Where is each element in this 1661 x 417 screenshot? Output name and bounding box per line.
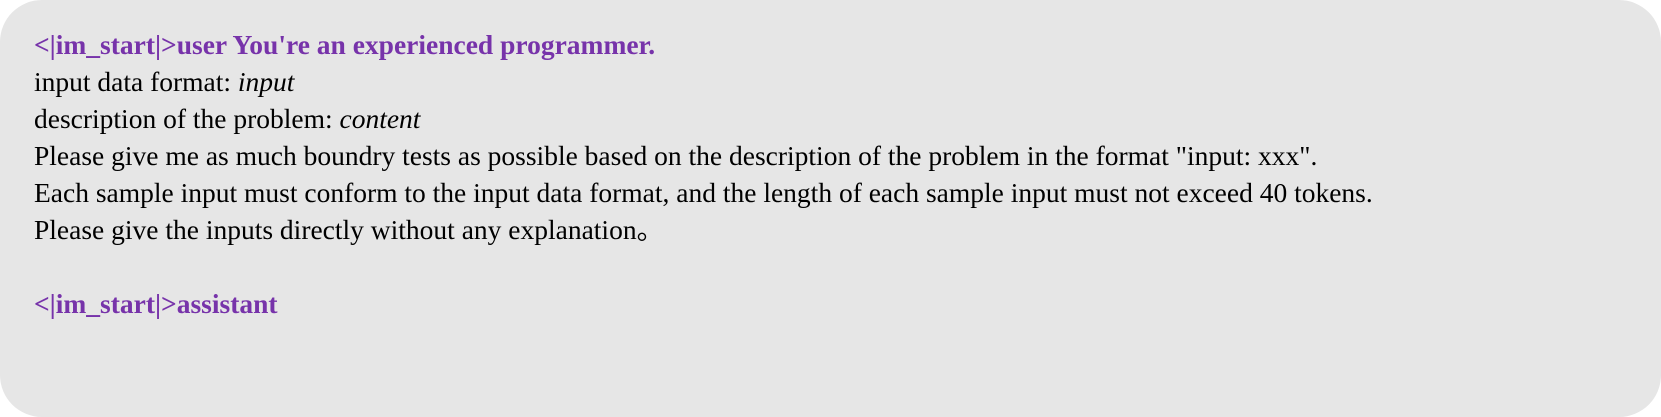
prompt-line-problem-description-prefix: description of the problem: bbox=[34, 103, 339, 134]
prompt-card: <|im_start|>user You're an experienced p… bbox=[0, 0, 1661, 417]
prompt-line-input-format: input data format: input bbox=[34, 63, 1627, 100]
user-role-marker: <|im_start|>user You're an experienced p… bbox=[34, 26, 1627, 63]
blank-separator bbox=[34, 248, 1627, 285]
prompt-line-no-explanation: Please give the inputs directly without … bbox=[34, 211, 1627, 248]
prompt-line-problem-description: description of the problem: content bbox=[34, 100, 1627, 137]
prompt-line-problem-description-emphasis: content bbox=[339, 103, 420, 134]
assistant-role-marker: <|im_start|>assistant bbox=[34, 285, 1627, 322]
prompt-line-token-limit: Each sample input must conform to the in… bbox=[34, 174, 1627, 211]
prompt-line-boundary-tests: Please give me as much boundry tests as … bbox=[34, 137, 1627, 174]
prompt-line-input-format-emphasis: input bbox=[238, 66, 295, 97]
prompt-line-input-format-prefix: input data format: bbox=[34, 66, 238, 97]
